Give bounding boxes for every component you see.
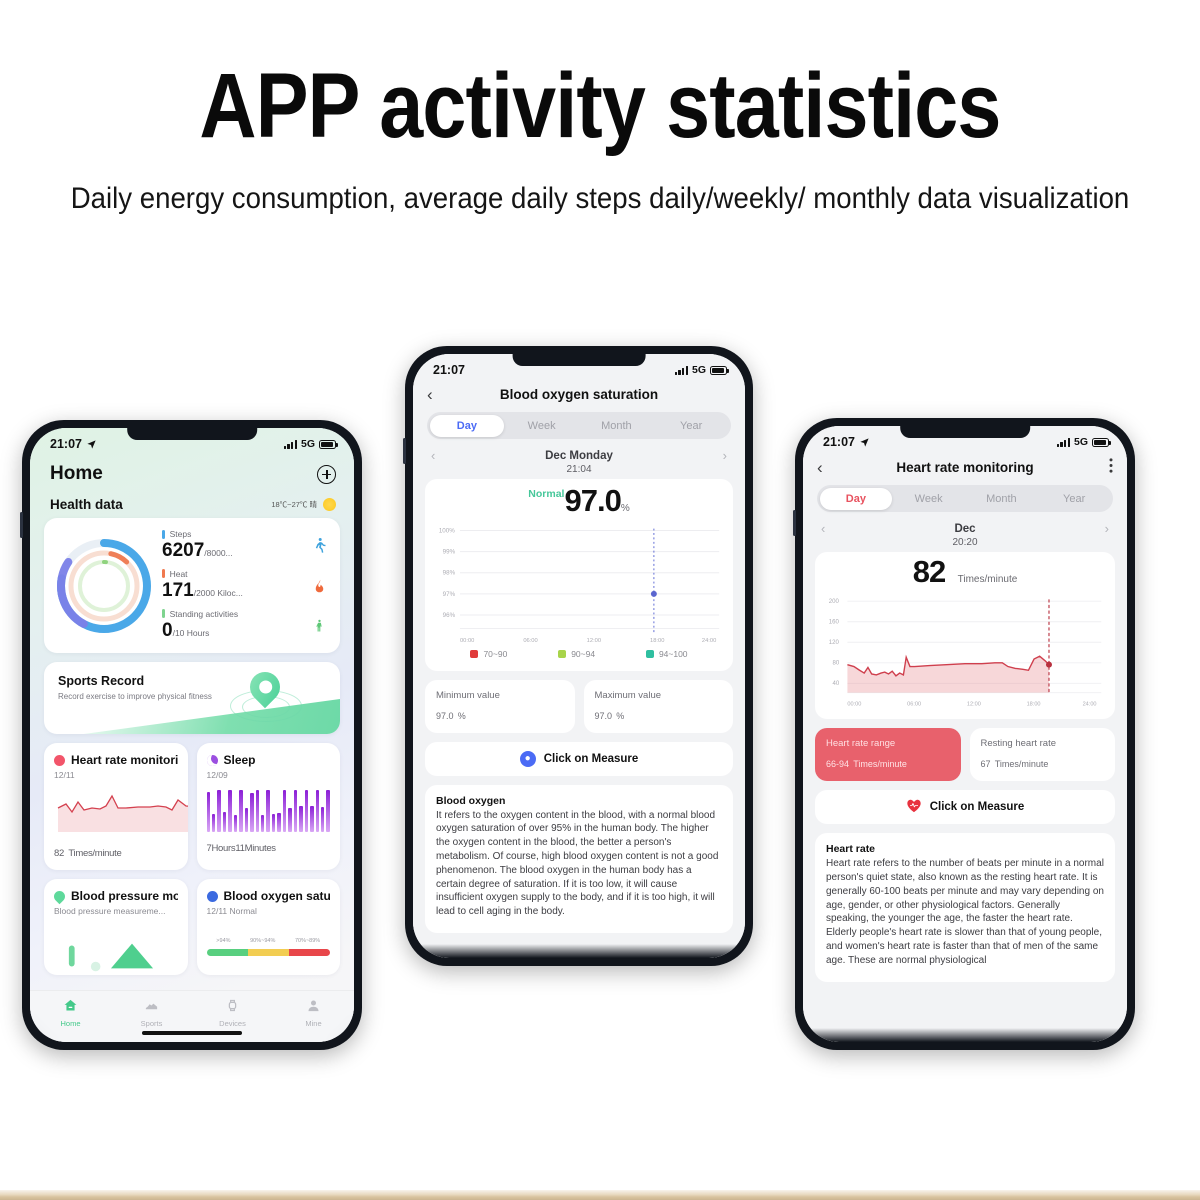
sleep-bar xyxy=(299,806,302,832)
stat-value: 0 xyxy=(162,620,173,641)
sleep-bar xyxy=(239,790,242,832)
sleep-bar xyxy=(256,790,259,832)
home-blood-oxygen-range-bar xyxy=(207,949,331,956)
reading-time: 21:04 xyxy=(413,464,745,479)
card-unit: Times/minute xyxy=(853,759,907,769)
more-vertical-icon[interactable] xyxy=(1093,458,1113,476)
blood-oxygen-day-chart: 100% 99% 98% 97% 96% 00:00 06:00 12:00 1… xyxy=(435,519,723,646)
svg-text:96%: 96% xyxy=(443,612,456,619)
bo-legend-2: 70%~89% xyxy=(295,938,320,944)
card-value: 97.0 xyxy=(595,711,613,721)
card-value: 67 xyxy=(981,759,991,769)
sleep-bar xyxy=(261,815,264,833)
circle-blue-icon xyxy=(207,891,218,902)
measure-button[interactable]: Click on Measure xyxy=(815,790,1115,824)
home-sleep-bars xyxy=(207,788,331,832)
battery-icon xyxy=(710,366,727,375)
legend-label: 90~94 xyxy=(571,649,595,659)
svg-text:18:00: 18:00 xyxy=(650,638,664,644)
chevron-left-icon[interactable]: ‹ xyxy=(817,459,837,476)
stat-heat[interactable]: Heat 171/2000 Kiloc... xyxy=(162,569,330,603)
maximum-value-card: Maximum value 97.0 % xyxy=(584,680,734,733)
sleep-bar xyxy=(272,814,275,832)
standing-person-icon xyxy=(308,614,330,636)
card-unit: % xyxy=(458,711,466,721)
legend-item: 94~100 xyxy=(646,649,688,659)
stat-label: Standing activities xyxy=(170,609,239,619)
blood-oxygen-legend: 70~90 90~94 94~100 xyxy=(435,646,723,661)
stat-label: Heat xyxy=(170,569,188,579)
mini-card-date: 12/11 xyxy=(54,770,178,780)
phone-right-heart-rate: 21:07 5G ‹ Heart rate monitoring Day We xyxy=(795,418,1135,1050)
walking-person-icon xyxy=(308,535,330,557)
home-icon xyxy=(63,998,78,1016)
info-title: Blood oxygen xyxy=(436,795,722,807)
flame-icon xyxy=(308,575,330,597)
mini-card-title: Blood oxygen satur xyxy=(224,889,331,903)
tab-home[interactable]: Home xyxy=(41,998,101,1028)
date-navigator[interactable]: ‹ Dec › xyxy=(803,512,1127,537)
droplet-icon xyxy=(52,888,68,904)
health-data-heading: Health data xyxy=(50,497,123,512)
sleep-minutes-value: 11 xyxy=(235,843,244,854)
card-label: Heart rate range xyxy=(826,738,950,751)
mini-card-subtitle: Blood pressure measureme... xyxy=(54,906,178,916)
card-label: Resting heart rate xyxy=(981,738,1105,751)
status-badge: Normal xyxy=(528,488,564,500)
tab-year[interactable]: Year xyxy=(654,415,729,437)
status-time: 21:07 xyxy=(823,435,855,449)
date-label: Dec Monday xyxy=(545,450,613,462)
measure-button-label: Click on Measure xyxy=(930,801,1025,813)
info-body: It refers to the oxygen content in the b… xyxy=(436,809,722,919)
sleep-minutes-unit: Minutes xyxy=(245,843,276,854)
person-icon xyxy=(306,998,321,1016)
mini-card-date: 12/09 xyxy=(207,770,331,780)
network-label: 5G xyxy=(1074,436,1088,448)
home-heart-rate-sparkline xyxy=(54,788,188,832)
card-label: Minimum value xyxy=(436,690,564,703)
sleep-bar xyxy=(294,790,297,832)
plus-circle-icon[interactable] xyxy=(317,465,336,484)
sleep-bar xyxy=(223,812,226,832)
stat-goal: /10 Hours xyxy=(173,628,210,638)
map-pin-icon xyxy=(228,666,304,732)
stat-label: Steps xyxy=(170,529,192,539)
location-arrow-icon xyxy=(859,437,870,448)
health-data-card[interactable]: Steps 6207/8000... Heat 171/2000 Kiloc..… xyxy=(44,518,340,653)
reading-unit: % xyxy=(621,503,630,514)
svg-text:24:00: 24:00 xyxy=(702,638,716,644)
info-title: Heart rate xyxy=(826,843,1104,855)
svg-text:06:00: 06:00 xyxy=(523,638,537,644)
card-unit: Times/minute xyxy=(995,759,1049,769)
info-body: Heart rate refers to the number of beats… xyxy=(826,857,1104,967)
moon-icon xyxy=(207,755,218,766)
tab-sports[interactable]: Sports xyxy=(122,998,182,1028)
blood-oxygen-chart-card: Normal97.0% 100% 99% 98% 97% 96 xyxy=(425,479,733,671)
resting-heart-rate-card: Resting heart rate 67 Times/minute xyxy=(970,728,1116,781)
home-heading: Home xyxy=(50,463,103,485)
legend-item: 70~90 xyxy=(470,649,507,659)
tab-label: Devices xyxy=(219,1019,246,1028)
legend-label: 70~90 xyxy=(483,649,507,659)
status-time: 21:07 xyxy=(50,437,82,451)
screen-title: Blood oxygen saturation xyxy=(447,387,711,402)
sleep-bar xyxy=(321,807,324,833)
svg-text:40: 40 xyxy=(832,681,839,687)
signal-icon xyxy=(675,366,688,375)
date-navigator[interactable]: ‹ Dec Monday › xyxy=(413,439,745,464)
tab-day[interactable]: Day xyxy=(820,488,893,510)
page-title: APP activity statistics xyxy=(84,58,1116,155)
page-subtitle: Daily energy consumption, average daily … xyxy=(48,177,1152,221)
legend-label: 94~100 xyxy=(659,649,688,659)
tab-week[interactable]: Week xyxy=(892,488,965,510)
sleep-bar xyxy=(288,808,291,832)
sleep-bar xyxy=(217,790,220,832)
home-activity-rings xyxy=(50,532,158,640)
reading-unit: Times/minute xyxy=(958,574,1018,585)
svg-text:12:00: 12:00 xyxy=(967,702,981,708)
sleep-mini-card[interactable]: Sleep 12/09 7Hours11Minutes xyxy=(197,743,341,870)
svg-text:12:00: 12:00 xyxy=(587,638,601,644)
card-label: Maximum value xyxy=(595,690,723,703)
svg-text:24:00: 24:00 xyxy=(1083,702,1097,708)
network-label: 5G xyxy=(301,438,315,450)
mini-card-subtitle: 12/11 Normal xyxy=(207,906,331,916)
signal-icon xyxy=(284,440,297,449)
stat-goal: /8000... xyxy=(204,548,232,558)
minimum-value-card: Minimum value 97.0 % xyxy=(425,680,575,733)
measure-button[interactable]: ● Click on Measure xyxy=(425,742,733,776)
tab-mine[interactable]: Mine xyxy=(284,998,344,1028)
signal-icon xyxy=(1057,438,1070,447)
reading-value: 97.0 xyxy=(564,483,620,518)
location-arrow-icon xyxy=(86,439,97,450)
heart-pulse-icon xyxy=(906,798,922,816)
mini-card-unit: Times/minute xyxy=(68,848,121,859)
heart-rate-chart-card: 82 Times/minute 200 160 120 80 xyxy=(815,552,1115,719)
svg-text:06:00: 06:00 xyxy=(907,702,921,708)
chevron-left-icon[interactable]: ‹ xyxy=(427,386,447,403)
sleep-bar xyxy=(283,790,286,832)
svg-text:00:00: 00:00 xyxy=(460,638,474,644)
content-fade xyxy=(413,944,745,958)
sleep-bar xyxy=(326,790,329,832)
sleep-bar xyxy=(305,790,308,832)
legend-item: 90~94 xyxy=(558,649,595,659)
reading-time: 20:20 xyxy=(803,537,1127,552)
heart-icon xyxy=(54,755,65,766)
shoe-icon xyxy=(144,998,159,1016)
network-label: 5G xyxy=(692,364,706,376)
blood-oxygen-mini-card[interactable]: Blood oxygen satur 12/11 Normal >94% 90%… xyxy=(197,879,341,975)
card-value: 97.0 xyxy=(436,711,454,721)
chevron-right-icon[interactable]: › xyxy=(723,448,727,463)
heart-rate-mini-card[interactable]: Heart rate monitorin 12/11 82 Times/minu… xyxy=(44,743,188,870)
bo-legend-1: 90%~94% xyxy=(250,938,275,944)
svg-text:100%: 100% xyxy=(439,527,455,534)
date-label: Dec xyxy=(954,523,975,535)
sleep-hours-unit: Hours xyxy=(211,843,235,854)
tab-month[interactable]: Month xyxy=(579,415,654,437)
svg-text:80: 80 xyxy=(832,661,839,667)
svg-text:120: 120 xyxy=(829,640,840,646)
tab-year[interactable]: Year xyxy=(1038,488,1111,510)
stat-value: 171 xyxy=(162,580,194,601)
phone-notch xyxy=(513,354,646,366)
sleep-bar xyxy=(207,792,210,832)
chevron-right-icon[interactable]: › xyxy=(1105,521,1109,536)
sleep-bar xyxy=(310,806,313,832)
svg-text:99%: 99% xyxy=(443,549,456,556)
card-value: 66-94 xyxy=(826,759,849,769)
sleep-bar xyxy=(316,790,319,832)
heart-rate-range-card: Heart rate range 66-94 Times/minute xyxy=(815,728,961,781)
sleep-bar xyxy=(234,815,237,833)
svg-text:98%: 98% xyxy=(443,570,456,577)
sports-record-card[interactable]: Sports Record Record exercise to improve… xyxy=(44,662,340,734)
sleep-bar xyxy=(250,793,253,833)
phone-left-home: 21:07 5G Home Health data 18℃~27℃ 晴 xyxy=(22,420,362,1050)
home-indicator xyxy=(142,1031,242,1035)
table-surface-strip xyxy=(0,1190,1200,1200)
svg-text:200: 200 xyxy=(829,599,840,605)
content-fade xyxy=(803,1028,1127,1042)
current-reading: 82 Times/minute xyxy=(825,554,1105,590)
tab-week[interactable]: Week xyxy=(504,415,579,437)
sleep-bar xyxy=(266,790,269,832)
blood-oxygen-info-card: Blood oxygen It refers to the oxygen con… xyxy=(425,785,733,933)
tab-label: Sports xyxy=(141,1019,163,1028)
tab-devices[interactable]: Devices xyxy=(203,998,263,1028)
stat-steps[interactable]: Steps 6207/8000... xyxy=(162,529,330,563)
watch-icon xyxy=(225,998,240,1016)
chevron-left-icon[interactable]: ‹ xyxy=(821,521,825,536)
mini-card-title: Sleep xyxy=(224,753,256,767)
heart-rate-info-card: Heart rate Heart rate refers to the numb… xyxy=(815,833,1115,981)
svg-text:160: 160 xyxy=(829,620,840,626)
tab-label: Home xyxy=(60,1019,80,1028)
sleep-bar xyxy=(212,814,215,832)
hero-block: APP activity statistics Daily energy con… xyxy=(0,58,1200,220)
weather-text: 18℃~27℃ 晴 xyxy=(271,499,317,510)
blood-pressure-mini-card[interactable]: Blood pressure mor Blood pressure measur… xyxy=(44,879,188,975)
chevron-left-icon[interactable]: ‹ xyxy=(431,448,435,463)
oxygen-drop-icon: ● xyxy=(520,751,536,767)
phone-notch xyxy=(900,426,1030,438)
weather-widget: 18℃~27℃ 晴 xyxy=(271,498,336,511)
period-segmented-control[interactable]: Day Week Month Year xyxy=(817,485,1113,512)
battery-icon xyxy=(319,440,336,449)
sleep-bar xyxy=(228,790,231,832)
svg-text:18:00: 18:00 xyxy=(1027,702,1041,708)
heart-rate-day-chart: 200 160 120 80 40 00:00 06:00 12:00 18:0… xyxy=(825,590,1105,709)
svg-text:00:00: 00:00 xyxy=(847,702,861,708)
tab-month[interactable]: Month xyxy=(965,488,1038,510)
tab-label: Mine xyxy=(305,1019,321,1028)
stat-standing[interactable]: Standing activities 0/10 Hours xyxy=(162,609,330,643)
mini-card-title: Blood pressure mor xyxy=(71,889,178,903)
stat-goal: /2000 Kiloc... xyxy=(194,588,243,598)
mini-card-value: 82 xyxy=(54,848,64,859)
battery-icon xyxy=(1092,438,1109,447)
bp-decor-graphic xyxy=(44,931,188,975)
bo-legend-0: >94% xyxy=(216,938,230,944)
sun-icon xyxy=(323,498,336,511)
sleep-bar xyxy=(245,808,248,832)
reading-value: 82 xyxy=(913,554,945,589)
status-time: 21:07 xyxy=(433,363,465,377)
sleep-bar xyxy=(277,813,280,832)
stat-value: 6207 xyxy=(162,540,204,561)
svg-text:97%: 97% xyxy=(443,591,456,598)
home-blood-oxygen-legend: >94% 90%~94% 70%~89% xyxy=(207,938,331,944)
card-unit: % xyxy=(616,711,624,721)
period-segmented-control[interactable]: Day Week Month Year xyxy=(427,412,731,439)
screen-title: Heart rate monitoring xyxy=(837,460,1093,475)
phone-notch xyxy=(127,428,257,440)
tab-day[interactable]: Day xyxy=(430,415,505,437)
current-reading: Normal97.0% xyxy=(435,483,723,519)
measure-button-label: Click on Measure xyxy=(544,753,639,765)
phone-center-blood-oxygen: 21:07 5G ‹ Blood oxygen saturation Day W… xyxy=(405,346,753,966)
mini-card-title: Heart rate monitorin xyxy=(71,753,178,767)
